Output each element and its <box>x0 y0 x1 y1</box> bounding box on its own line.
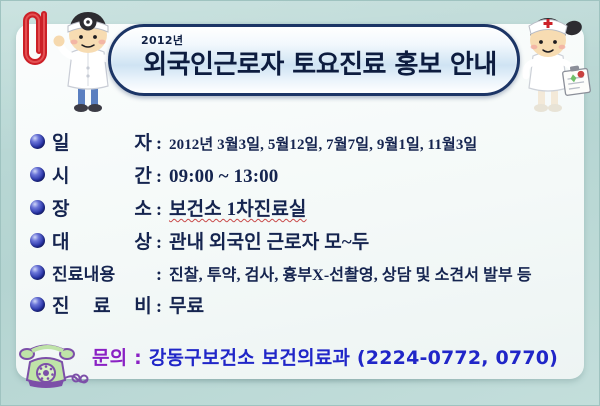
blue-sphere-bullet-icon <box>30 134 45 149</box>
poster: 2012년 외국인근로자 토요진료 홍보 안내 일 자 : 2012년 3월3일… <box>0 0 600 406</box>
info-label-target: 대 상 <box>52 227 152 254</box>
info-value-time: 09:00 ~ 13:00 <box>169 166 575 188</box>
footer-contact: 문의 : 강동구보건소 보건의료과 (2224-0772, 0770) <box>92 343 558 370</box>
info-colon-place: : <box>156 199 162 220</box>
info-value-place: 보건소 1차진료실 <box>169 194 575 221</box>
info-row-services: 진료내용 : 진찰, 투약, 검사, 흉부X-선촬영, 상담 및 소견서 발부 … <box>30 260 575 285</box>
blue-sphere-bullet-icon <box>30 200 45 215</box>
info-row-date: 일 자 : 2012년 3월3일, 5월12일, 7월7일, 9월1일, 11월… <box>30 128 575 155</box>
info-colon-date: : <box>156 133 162 154</box>
rotary-telephone-icon <box>18 336 90 392</box>
info-colon-fee: : <box>156 296 162 317</box>
info-row-target: 대 상 : 관내 외국인 근로자 모~두 <box>30 227 575 254</box>
info-label-fee: 진 료 비 <box>52 291 152 318</box>
info-value-fee: 무료 <box>169 291 575 318</box>
info-list: 일 자 : 2012년 3월3일, 5월12일, 7월7일, 9월1일, 11월… <box>30 128 575 324</box>
footer-label: 문의 : <box>92 347 142 369</box>
info-value-target: 관내 외국인 근로자 모~두 <box>169 227 575 254</box>
info-label-date: 일 자 <box>52 128 152 155</box>
blue-sphere-bullet-icon <box>30 297 45 312</box>
info-value-date: 2012년 3월3일, 5월12일, 7월7일, 9월1일, 11월3일 <box>169 133 575 154</box>
info-row-time: 시 간 : 09:00 ~ 13:00 <box>30 161 575 188</box>
info-colon-target: : <box>156 232 162 253</box>
info-label-time: 시 간 <box>52 161 152 188</box>
info-label-place: 장 소 <box>52 194 152 221</box>
info-colon-time: : <box>156 166 162 187</box>
info-row-fee: 진 료 비 : 무료 <box>30 291 575 318</box>
info-colon-services: : <box>156 264 162 285</box>
info-label-services: 진료내용 <box>52 260 152 285</box>
footer-contact-text: 강동구보건소 보건의료과 (2224-0772, 0770) <box>149 347 558 369</box>
info-row-place: 장 소 : 보건소 1차진료실 <box>30 194 575 221</box>
info-value-services: 진찰, 투약, 검사, 흉부X-선촬영, 상담 및 소견서 발부 등 <box>169 261 575 285</box>
blue-sphere-bullet-icon <box>30 233 45 248</box>
title-banner: 2012년 외국인근로자 토요진료 홍보 안내 <box>108 24 520 96</box>
page-title: 외국인근로자 토요진료 홍보 안내 <box>137 44 503 81</box>
blue-sphere-bullet-icon <box>30 265 45 280</box>
blue-sphere-bullet-icon <box>30 167 45 182</box>
